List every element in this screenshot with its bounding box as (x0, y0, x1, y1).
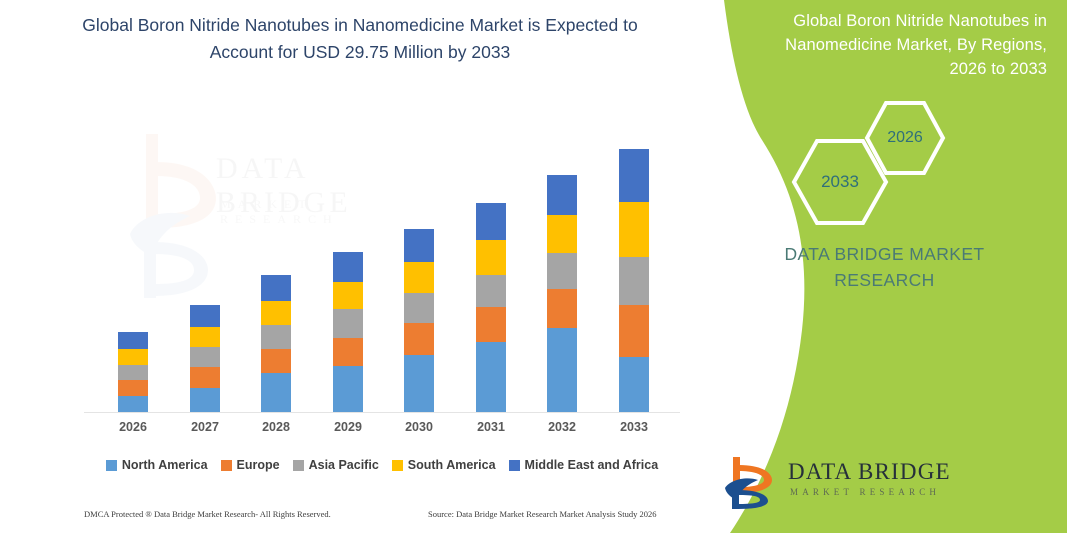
bar-2028[interactable] (261, 275, 291, 412)
hexagon-2026-label: 2026 (863, 100, 947, 176)
legend-label: Middle East and Africa (525, 458, 659, 472)
bar-2027[interactable] (190, 305, 220, 412)
legend-item-asia-pacific[interactable]: Asia Pacific (293, 458, 379, 472)
bar-segment-2027-north-america[interactable] (190, 388, 220, 412)
bar-2026[interactable] (118, 332, 148, 412)
chart-baseline (84, 412, 680, 413)
bar-segment-2029-north-america[interactable] (333, 366, 363, 412)
bar-segment-2027-europe[interactable] (190, 367, 220, 388)
bar-segment-2031-asia-pacific[interactable] (476, 275, 506, 307)
legend-swatch-icon (392, 460, 403, 471)
bar-segment-2028-europe[interactable] (261, 349, 291, 373)
legend-label: South America (408, 458, 496, 472)
legend-label: Europe (237, 458, 280, 472)
x-tick-2033: 2033 (604, 420, 664, 434)
bar-2029[interactable] (333, 252, 363, 412)
bar-segment-2032-north-america[interactable] (547, 328, 577, 412)
bar-segment-2028-middle-east-and-africa[interactable] (261, 275, 291, 301)
bar-segment-2031-south-america[interactable] (476, 240, 506, 275)
panel-title: Global Boron Nitride Nanotubes in Nanome… (757, 10, 1047, 82)
bar-segment-2032-south-america[interactable] (547, 215, 577, 253)
bar-segment-2032-europe[interactable] (547, 289, 577, 328)
brand-text-line1: DATA BRIDGE MARKET (784, 244, 984, 264)
bar-segment-2031-middle-east-and-africa[interactable] (476, 203, 506, 240)
legend-swatch-icon (221, 460, 232, 471)
logo-tagline: MARKET RESEARCH (790, 487, 940, 497)
footer-source: Source: Data Bridge Market Research Mark… (428, 509, 657, 519)
bar-segment-2029-europe[interactable] (333, 338, 363, 366)
x-tick-2031: 2031 (461, 420, 521, 434)
bar-segment-2030-north-america[interactable] (404, 355, 434, 412)
chart-panel: Global Boron Nitride Nanotubes in Nanome… (0, 0, 712, 533)
bar-segment-2026-south-america[interactable] (118, 349, 148, 365)
x-axis-labels: 20262027202820292030203120322033 (84, 420, 680, 442)
bar-segment-2031-north-america[interactable] (476, 342, 506, 412)
footer: DMCA Protected ® Data Bridge Market Rese… (0, 506, 712, 528)
brand-text: DATA BRIDGE MARKET RESEARCH (702, 241, 1067, 294)
bar-segment-2031-europe[interactable] (476, 307, 506, 342)
hexagon-2026: 2026 (863, 100, 947, 176)
bar-segment-2033-asia-pacific[interactable] (619, 257, 649, 305)
bar-segment-2033-europe[interactable] (619, 305, 649, 357)
bar-2033[interactable] (619, 149, 649, 412)
bar-segment-2026-north-america[interactable] (118, 396, 148, 412)
bar-segment-2030-south-america[interactable] (404, 262, 434, 293)
bar-segment-2030-europe[interactable] (404, 323, 434, 355)
bar-segment-2026-middle-east-and-africa[interactable] (118, 332, 148, 349)
bar-2032[interactable] (547, 175, 577, 412)
bar-segment-2027-south-america[interactable] (190, 327, 220, 347)
x-tick-2030: 2030 (389, 420, 449, 434)
x-tick-2027: 2027 (175, 420, 235, 434)
bar-segment-2026-asia-pacific[interactable] (118, 365, 148, 380)
x-tick-2028: 2028 (246, 420, 306, 434)
logo-wordmark: DATA BRIDGE (788, 459, 951, 485)
bar-segment-2027-asia-pacific[interactable] (190, 347, 220, 367)
bar-segment-2028-asia-pacific[interactable] (261, 325, 291, 349)
x-tick-2032: 2032 (532, 420, 592, 434)
bar-segment-2032-middle-east-and-africa[interactable] (547, 175, 577, 215)
legend-item-south-america[interactable]: South America (392, 458, 496, 472)
x-tick-2029: 2029 (318, 420, 378, 434)
bar-segment-2033-north-america[interactable] (619, 357, 649, 412)
legend-item-middle-east-and-africa[interactable]: Middle East and Africa (509, 458, 659, 472)
bar-segment-2028-north-america[interactable] (261, 373, 291, 412)
legend-item-north-america[interactable]: North America (106, 458, 208, 472)
legend-swatch-icon (293, 460, 304, 471)
data-bridge-logo-icon (724, 455, 782, 510)
legend-swatch-icon (106, 460, 117, 471)
bar-segment-2033-south-america[interactable] (619, 202, 649, 257)
page-title: Global Boron Nitride Nanotubes in Nanome… (60, 12, 660, 65)
legend-swatch-icon (509, 460, 520, 471)
bar-segment-2029-south-america[interactable] (333, 282, 363, 309)
x-tick-2026: 2026 (103, 420, 163, 434)
brand-logo: DATA BRIDGE MARKET RESEARCH (724, 453, 1054, 515)
green-side-panel: Global Boron Nitride Nanotubes in Nanome… (702, 0, 1067, 533)
bar-2031[interactable] (476, 203, 506, 412)
legend-label: Asia Pacific (309, 458, 379, 472)
stacked-bar-chart-plot (84, 110, 680, 413)
footer-copyright: DMCA Protected ® Data Bridge Market Rese… (84, 509, 331, 519)
bar-segment-2033-middle-east-and-africa[interactable] (619, 149, 649, 202)
bar-segment-2029-asia-pacific[interactable] (333, 309, 363, 338)
bar-segment-2028-south-america[interactable] (261, 301, 291, 325)
brand-text-line2: RESEARCH (702, 267, 1067, 293)
bar-2030[interactable] (404, 229, 434, 412)
bar-segment-2026-europe[interactable] (118, 380, 148, 396)
chart-legend: North AmericaEuropeAsia PacificSouth Ame… (84, 455, 680, 475)
bar-segment-2032-asia-pacific[interactable] (547, 253, 577, 289)
bar-segment-2030-asia-pacific[interactable] (404, 293, 434, 323)
bar-segment-2029-middle-east-and-africa[interactable] (333, 252, 363, 282)
legend-item-europe[interactable]: Europe (221, 458, 280, 472)
bar-segment-2030-middle-east-and-africa[interactable] (404, 229, 434, 262)
legend-label: North America (122, 458, 208, 472)
bar-segment-2027-middle-east-and-africa[interactable] (190, 305, 220, 327)
